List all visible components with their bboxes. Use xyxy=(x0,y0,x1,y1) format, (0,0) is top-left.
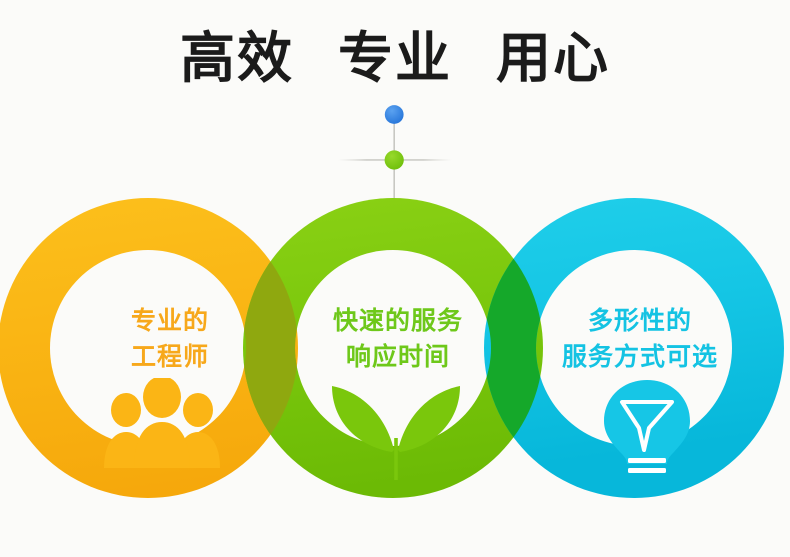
sprout-leaf-icon xyxy=(326,376,466,480)
caption1-line2: 工程师 xyxy=(60,339,280,375)
caption2-line2: 响应时间 xyxy=(288,339,508,375)
green-dot xyxy=(385,150,404,169)
blue-dot xyxy=(385,105,404,124)
caption-flexible-service-modes: 多形性的 服务方式可选 xyxy=(512,303,768,375)
caption2-line1: 快速的服务 xyxy=(288,303,508,339)
caption3-line2: 服务方式可选 xyxy=(512,339,768,375)
page-title: 高效专业用心 xyxy=(0,27,790,89)
caption1-line1: 专业的 xyxy=(60,303,280,339)
caption-fast-service-response: 快速的服务 响应时间 xyxy=(288,303,508,375)
lightbulb-icon xyxy=(592,378,702,474)
people-icon xyxy=(96,378,228,468)
headline-word-2: 专业 xyxy=(338,27,452,89)
headline-word-3: 用心 xyxy=(496,27,610,89)
poster-canvas: 高效专业用心 xyxy=(0,0,790,557)
headline-word-1: 高效 xyxy=(180,27,294,89)
caption3-line1: 多形性的 xyxy=(512,303,768,339)
caption-professional-engineers: 专业的 工程师 xyxy=(60,303,280,375)
